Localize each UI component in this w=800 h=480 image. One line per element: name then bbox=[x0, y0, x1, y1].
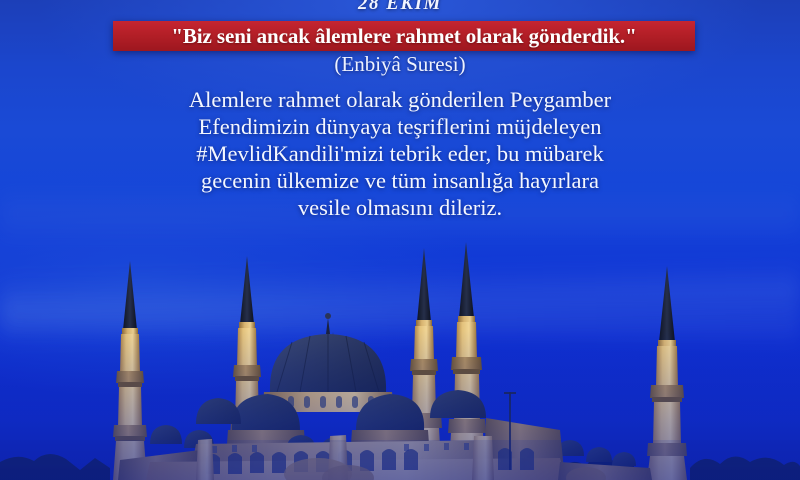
greeting-message: Alemlere rahmet olarak gönderilen Peygam… bbox=[100, 86, 700, 221]
message-line-3: #MevlidKandili'mizi tebrik eder, bu müba… bbox=[100, 140, 700, 167]
date-line: 28 EKİM bbox=[0, 0, 800, 15]
mevlid-kandili-poster: 28 EKİM "Biz seni ancak âlemlere rahmet … bbox=[0, 0, 800, 480]
message-line-1: Alemlere rahmet olarak gönderilen Peygam… bbox=[100, 86, 700, 113]
verse-text: "Biz seni ancak âlemlere rahmet olarak g… bbox=[171, 24, 636, 49]
bottom-atmospheric-haze bbox=[0, 330, 800, 480]
message-line-2: Efendimizin dünyaya teşriflerini müjdele… bbox=[100, 113, 700, 140]
message-line-5: vesile olmasını dileriz. bbox=[100, 194, 700, 221]
verse-banner: "Biz seni ancak âlemlere rahmet olarak g… bbox=[113, 21, 695, 51]
message-line-4: gecenin ülkemize ve tüm insanlığa hayırl… bbox=[100, 167, 700, 194]
verse-source: (Enbiyâ Suresi) bbox=[0, 52, 800, 77]
